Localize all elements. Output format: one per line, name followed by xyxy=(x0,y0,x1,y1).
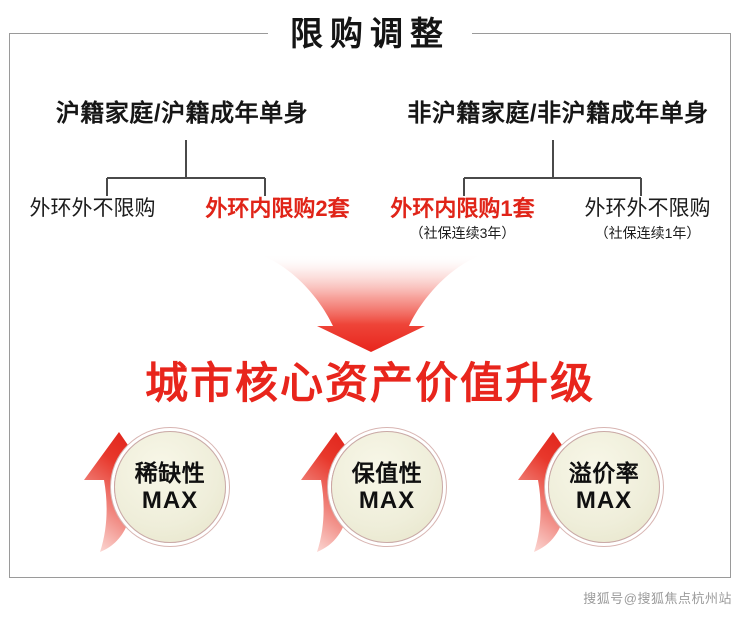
badge-scarcity: 稀缺性 MAX xyxy=(58,424,254,554)
badge-value-retention-circle: 保值性 MAX xyxy=(331,431,443,543)
leaf-nonlocal-inner-note: （社保连续3年） xyxy=(370,222,555,244)
branch-header-row: 沪籍家庭/沪籍成年单身 非沪籍家庭/非沪籍成年单身 xyxy=(0,93,740,128)
leaf-nonlocal-inner: 外环内限购1套 （社保连续3年） xyxy=(370,196,555,244)
badge-value-retention: 保值性 MAX xyxy=(275,424,471,554)
leaf-nonlocal-inner-label: 外环内限购1套 xyxy=(370,196,555,222)
leaf-nonlocal-outer-label: 外环外不限购 xyxy=(555,196,740,222)
badge-scarcity-max: MAX xyxy=(142,487,198,515)
funnel-down-arrow-icon xyxy=(255,252,487,352)
branch-header-local-label: 沪籍家庭/沪籍成年单身 xyxy=(0,93,364,128)
branch-header-local: 沪籍家庭/沪籍成年单身 xyxy=(0,93,370,128)
leaf-group-local: 外环外不限购 外环内限购2套 xyxy=(0,196,370,244)
badge-row: 稀缺性 MAX 保值性 MAX xyxy=(58,424,688,554)
leaf-local-outer: 外环外不限购 xyxy=(0,196,185,244)
badge-premium-rate-max: MAX xyxy=(576,487,632,515)
badge-value-retention-label: 保值性 xyxy=(352,459,423,487)
watermark: 搜狐号@搜狐焦点杭州站 xyxy=(583,588,732,607)
leaf-local-inner: 外环内限购2套 xyxy=(185,196,370,244)
badge-premium-rate: 溢价率 MAX xyxy=(492,424,688,554)
page-title-row: 限购调整 xyxy=(0,14,740,54)
branch-leaf-row: 外环外不限购 外环内限购2套 外环内限购1套 （社保连续3年） 外环外不限购 （… xyxy=(0,196,740,244)
main-headline: 城市核心资产价值升级 xyxy=(0,358,740,410)
page-title: 限购调整 xyxy=(268,14,472,54)
branch-header-nonlocal-label: 非沪籍家庭/非沪籍成年单身 xyxy=(376,93,740,128)
badge-premium-rate-circle: 溢价率 MAX xyxy=(548,431,660,543)
leaf-group-nonlocal: 外环内限购1套 （社保连续3年） 外环外不限购 （社保连续1年） xyxy=(370,196,740,244)
leaf-local-inner-label: 外环内限购2套 xyxy=(185,196,370,222)
leaf-nonlocal-outer-note: （社保连续1年） xyxy=(555,222,740,244)
badge-value-retention-max: MAX xyxy=(359,487,415,515)
leaf-local-outer-label: 外环外不限购 xyxy=(0,196,185,222)
badge-scarcity-circle: 稀缺性 MAX xyxy=(114,431,226,543)
badge-premium-rate-label: 溢价率 xyxy=(569,459,640,487)
badge-scarcity-label: 稀缺性 xyxy=(135,459,206,487)
infographic-page: 限购调整 沪籍家庭/沪籍成年单身 非沪籍家庭/非沪籍成年单身 外环外不限购 外环… xyxy=(0,0,740,617)
branch-header-nonlocal: 非沪籍家庭/非沪籍成年单身 xyxy=(370,93,740,128)
leaf-nonlocal-outer: 外环外不限购 （社保连续1年） xyxy=(555,196,740,244)
